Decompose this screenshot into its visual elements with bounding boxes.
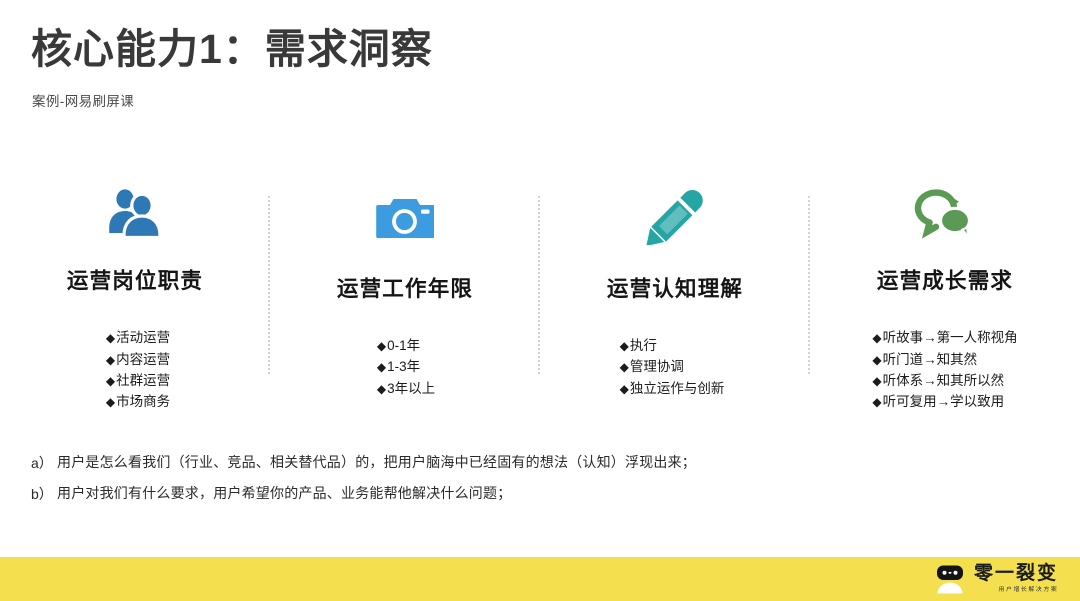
brand-text: 零一裂变 用户增长解决方案 [974, 564, 1058, 593]
diamond-bullet-icon: ◆ [620, 360, 629, 374]
page-title: 核心能力1：需求洞察 [31, 26, 931, 73]
users-icon [106, 186, 164, 240]
list-item-label: 社群运营 [116, 373, 170, 388]
diamond-bullet-icon: ◆ [377, 382, 386, 396]
diamond-bullet-icon: ◆ [106, 395, 115, 409]
column-heading: 运营工作年限 [337, 272, 473, 303]
list-item-label: 听故事→第一人称视角 [883, 330, 1018, 345]
diamond-bullet-icon: ◆ [377, 360, 386, 374]
capability-columns: 运营岗位职责 ◆活动运营 ◆内容运营 ◆社群运营 ◆市场商务 [0, 186, 1080, 426]
slide-header: 核心能力1：需求洞察 案例-网易刷屏课 [31, 26, 931, 110]
column-operations-experience: 运营工作年限 ◆0-1年 ◆1-3年 ◆3年以上 [270, 186, 540, 426]
diamond-bullet-icon: ◆ [872, 395, 881, 409]
list-item-label: 执行 [630, 338, 657, 353]
list-item-label: 听体系→知其所以然 [883, 373, 1005, 388]
chat-bubbles-icon [914, 186, 976, 240]
robot-logo-icon [933, 564, 967, 594]
list-item: ◆听可复用→学以致用 [872, 391, 1017, 412]
note-text: 用户对我们有什么要求，用户希望你的产品、业务能帮他解决什么问题； [57, 484, 511, 503]
list-item: ◆3年以上 [377, 378, 435, 399]
note-text: 用户是怎么看我们（行业、竞品、相关替代品）的，把用户脑海中已经固有的想法（认知）… [57, 453, 696, 472]
slide-canvas: 核心能力1：需求洞察 案例-网易刷屏课 运营岗位职责 ◆活动运营 ◆内容运营 [0, 0, 1080, 601]
column-bullet-list: ◆听故事→第一人称视角 ◆听门道→知其然 ◆听体系→知其所以然 ◆听可复用→学以… [872, 327, 1017, 412]
list-item-label: 1-3年 [387, 359, 420, 374]
list-item: ◆听门道→知其然 [872, 349, 1017, 370]
list-item-label: 市场商务 [116, 394, 170, 409]
diamond-bullet-icon: ◆ [106, 374, 115, 388]
list-item: ◆执行 [620, 335, 725, 356]
diamond-bullet-icon: ◆ [620, 382, 629, 396]
list-item-label: 听门道→知其然 [883, 352, 978, 367]
brand-logo: 零一裂变 用户增长解决方案 [933, 564, 1058, 594]
list-item-label: 独立运作与创新 [630, 381, 725, 396]
list-item: ◆1-3年 [377, 356, 435, 377]
note-item: a） 用户是怎么看我们（行业、竞品、相关替代品）的，把用户脑海中已经固有的想法（… [31, 453, 1041, 473]
column-heading: 运营岗位职责 [67, 264, 203, 295]
diamond-bullet-icon: ◆ [106, 331, 115, 345]
diamond-bullet-icon: ◆ [620, 339, 629, 353]
page-subtitle: 案例-网易刷屏课 [32, 90, 931, 110]
camera-icon [376, 186, 434, 248]
list-item: ◆听故事→第一人称视角 [872, 327, 1017, 348]
footer-bar: 零一裂变 用户增长解决方案 [0, 557, 1080, 601]
note-item: b） 用户对我们有什么要求，用户希望你的产品、业务能帮他解决什么问题； [31, 484, 1041, 504]
list-item: ◆听体系→知其所以然 [872, 370, 1017, 391]
list-item: ◆管理协调 [620, 356, 725, 377]
list-item-label: 0-1年 [387, 338, 420, 353]
list-item-label: 内容运营 [116, 352, 170, 367]
list-item: ◆0-1年 [377, 335, 435, 356]
column-heading: 运营认知理解 [607, 272, 743, 303]
column-operations-growth-needs: 运营成长需求 ◆听故事→第一人称视角 ◆听门道→知其然 ◆听体系→知其所以然 ◆… [810, 186, 1080, 426]
column-bullet-list: ◆活动运营 ◆内容运营 ◆社群运营 ◆市场商务 [106, 327, 170, 412]
list-item: ◆市场商务 [106, 391, 170, 412]
notes-block: a） 用户是怎么看我们（行业、竞品、相关替代品）的，把用户脑海中已经固有的想法（… [31, 453, 1041, 515]
diamond-bullet-icon: ◆ [872, 353, 881, 367]
list-item: ◆活动运营 [106, 327, 170, 348]
diamond-bullet-icon: ◆ [872, 331, 881, 345]
column-heading: 运营成长需求 [877, 264, 1013, 295]
column-operations-duties: 运营岗位职责 ◆活动运营 ◆内容运营 ◆社群运营 ◆市场商务 [0, 186, 270, 426]
list-item-label: 管理协调 [630, 359, 684, 374]
list-item: ◆内容运营 [106, 349, 170, 370]
list-item-label: 听可复用→学以致用 [883, 394, 1005, 409]
diamond-bullet-icon: ◆ [106, 353, 115, 367]
column-bullet-list: ◆0-1年 ◆1-3年 ◆3年以上 [377, 335, 435, 399]
pencil-icon [646, 186, 704, 248]
note-marker: a） [31, 453, 57, 473]
list-item-label: 3年以上 [387, 381, 435, 396]
column-bullet-list: ◆执行 ◆管理协调 ◆独立运作与创新 [620, 335, 725, 399]
list-item: ◆社群运营 [106, 370, 170, 391]
diamond-bullet-icon: ◆ [377, 339, 386, 353]
brand-name: 零一裂变 [974, 564, 1058, 583]
column-operations-cognition: 运营认知理解 ◆执行 ◆管理协调 ◆独立运作与创新 [540, 186, 810, 426]
list-item-label: 活动运营 [116, 330, 170, 345]
list-item: ◆独立运作与创新 [620, 378, 725, 399]
diamond-bullet-icon: ◆ [872, 374, 881, 388]
note-marker: b） [31, 484, 57, 504]
brand-tagline: 用户增长解决方案 [998, 588, 1058, 594]
